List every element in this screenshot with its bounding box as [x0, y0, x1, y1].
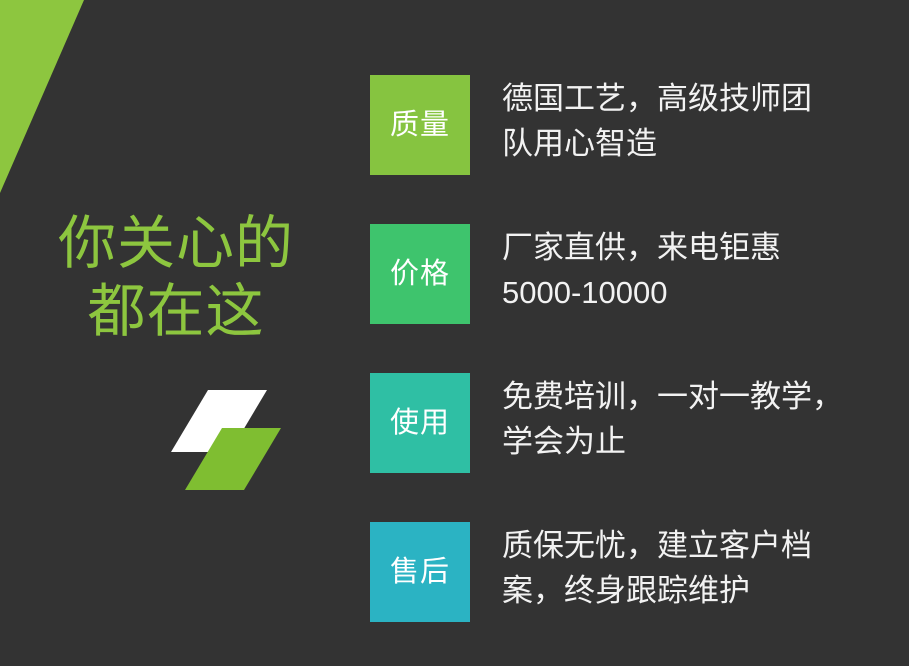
feature-badge-usage[interactable]: 使用	[370, 373, 470, 473]
feature-description-line-1: 厂家直供，来电钜惠	[502, 225, 909, 270]
feature-row: 售后 质保无忧，建立客户档 案，终身跟踪维护	[370, 522, 909, 622]
feature-description-line-2: 5000-10000	[502, 270, 909, 315]
feature-row: 质量 德国工艺，高级技师团 队用心智造	[370, 75, 909, 175]
brand-logo-icon	[168, 386, 284, 494]
feature-badge-label: 质量	[390, 111, 450, 140]
feature-description-line-2: 队用心智造	[502, 121, 909, 166]
feature-description: 质保无忧，建立客户档 案，终身跟踪维护	[502, 522, 909, 613]
feature-row: 使用 免费培训，一对一教学， 学会为止	[370, 373, 909, 473]
feature-description-line-2: 案，终身跟踪维护	[502, 568, 909, 613]
feature-description-line-1: 免费培训，一对一教学，	[502, 374, 909, 419]
feature-badge-label: 价格	[390, 260, 450, 289]
feature-description-line-1: 德国工艺，高级技师团	[502, 76, 909, 121]
feature-description-line-1: 质保无忧，建立客户档	[502, 523, 909, 568]
left-panel: 你关心的 都在这	[0, 0, 352, 666]
page-title: 你关心的 都在这	[0, 210, 352, 346]
feature-badge-label: 使用	[390, 409, 450, 438]
feature-row: 价格 厂家直供，来电钜惠 5000-10000	[370, 224, 909, 324]
slide-canvas: 你关心的 都在这 质量 德国工艺，高级技师团 队用心智造 价格	[0, 0, 909, 666]
feature-description: 厂家直供，来电钜惠 5000-10000	[502, 224, 909, 315]
page-title-line-1: 你关心的	[0, 210, 352, 278]
feature-description: 免费培训，一对一教学， 学会为止	[502, 373, 909, 464]
feature-badge-aftersales[interactable]: 售后	[370, 522, 470, 622]
feature-badge-quality[interactable]: 质量	[370, 75, 470, 175]
feature-description-line-2: 学会为止	[502, 419, 909, 464]
page-title-line-2: 都在这	[0, 278, 352, 346]
feature-list: 质量 德国工艺，高级技师团 队用心智造 价格 厂家直供，来电钜惠 5000-10…	[370, 0, 909, 666]
feature-badge-price[interactable]: 价格	[370, 224, 470, 324]
feature-description: 德国工艺，高级技师团 队用心智造	[502, 75, 909, 166]
feature-badge-label: 售后	[390, 558, 450, 587]
